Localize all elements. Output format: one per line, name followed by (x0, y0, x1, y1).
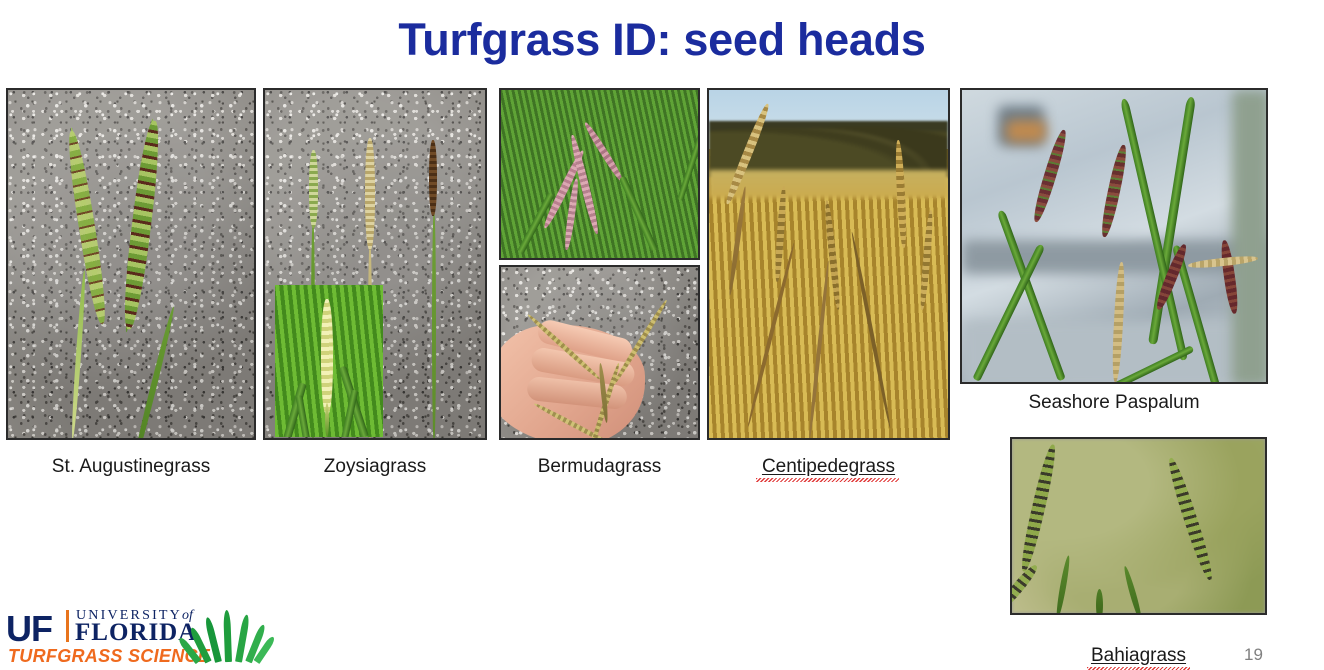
caption-text: Centipedegrass (762, 456, 895, 477)
photo-bermudagrass-bottom[interactable] (499, 265, 700, 440)
caption-centipedegrass: Centipedegrass (707, 456, 950, 478)
logo-unit-text: TURFGRASS SCIENCE (8, 646, 210, 667)
seedhead-right (120, 114, 180, 440)
grass-icon (191, 604, 263, 664)
photo-bermudagrass-top[interactable] (499, 88, 700, 260)
caption-zoysiagrass: Zoysiagrass (263, 456, 487, 478)
spellcheck-underline-centipedegrass (756, 478, 899, 482)
slide: Turfgrass ID: seed heads St. Augustinegr… (0, 0, 1324, 670)
caption-bermudagrass: Bermudagrass (499, 456, 700, 478)
bahia-main-stem (1096, 589, 1103, 615)
photo-zoysiagrass[interactable] (263, 88, 487, 440)
photo-bahiagrass[interactable] (1010, 437, 1267, 615)
photo-seashore-paspalum[interactable] (960, 88, 1268, 384)
seed-stalk-3 (428, 140, 438, 440)
zoysiagrass-inset-photo[interactable] (275, 285, 383, 437)
inset-stem (325, 403, 329, 437)
background-blur-shape (1006, 120, 1046, 142)
caption-bahiagrass: Bahiagrass (1010, 645, 1267, 667)
page-title: Turfgrass ID: seed heads (0, 14, 1324, 66)
seedhead-left (66, 120, 108, 430)
caption-st-augustinegrass: St. Augustinegrass (6, 456, 256, 478)
caption-text: Bahiagrass (1091, 645, 1186, 666)
caption-seashore-paspalum: Seashore Paspalum (960, 392, 1268, 414)
uf-turfgrass-science-logo: UF UNIVERSITYof FLORIDA TURFGRASS SCIENC… (6, 606, 258, 666)
background-blur-shape (1232, 90, 1268, 384)
photo-centipedegrass[interactable] (707, 88, 950, 440)
uf-monogram: UF (6, 608, 52, 650)
logo-divider (66, 610, 69, 642)
slide-number: 19 (1244, 645, 1263, 665)
inset-seedhead (321, 299, 333, 415)
photo-st-augustinegrass[interactable] (6, 88, 256, 440)
